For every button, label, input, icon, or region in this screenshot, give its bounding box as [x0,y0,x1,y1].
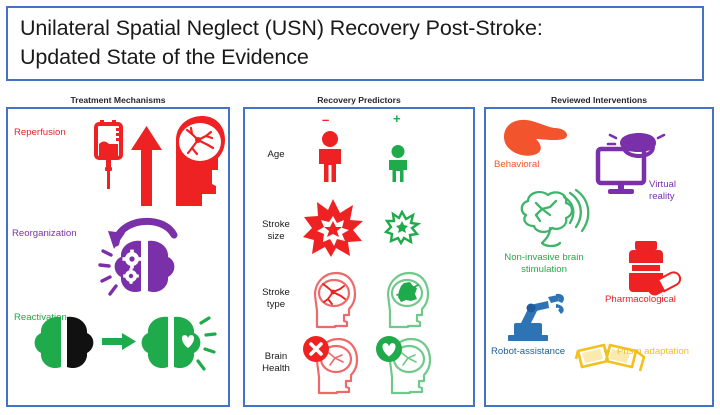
panel-treatment-mechanisms: Reperfusion [6,107,230,407]
child-person-icon [385,145,411,183]
intervention-label-behavioral: Behavioral [494,159,539,171]
positive-sign-header: + [393,114,401,124]
predictor-label-stroke-type: Stroke type [250,287,302,310]
intervention-label-robot-assistance: Robot-assistance [491,346,565,358]
robot-arm-icon [504,291,566,347]
brain-stimulation-icon [516,187,590,255]
intervention-label-virtual-reality: Virtual reality [649,179,676,202]
panel-recovery-predictors: – + Age Stroke size [243,107,475,407]
half-dark-brain-to-heart-brain-icon [26,309,216,387]
panel-header-reviewed-interventions: Reviewed Interventions [484,95,714,105]
adult-person-icon [313,131,347,183]
pill-bottle-icon [625,241,677,297]
page-title: Unilateral Spatial Neglect (USN) Recover… [20,14,692,72]
brain-gears-arrow-icon [100,209,208,301]
intervention-label-pharmacological: Pharmacological [605,294,676,306]
predictor-label-age: Age [250,149,302,161]
iv-bag-arrow-brain-head-icon [92,114,222,210]
negative-sign-header: – [322,115,329,125]
head-x-mark-icon [303,333,359,395]
intervention-label-non-invasive-brain-stimulation: Non-invasive brain stimulation [489,252,599,275]
predictor-label-brain-health: Brain Health [250,351,302,374]
large-burst-icon [303,199,363,257]
head-heart-icon [376,333,432,395]
poster-root: Unilateral Spatial Neglect (USN) Recover… [0,0,720,415]
predictor-label-stroke-size: Stroke size [250,219,302,242]
small-burst-icon [386,212,418,243]
panel-header-recovery-predictors: Recovery Predictors [243,95,475,105]
mechanism-label-reorganization: Reorganization [12,228,77,240]
intervention-label-prism-adaptation: Prism adaptation [617,346,689,358]
title-box: Unilateral Spatial Neglect (USN) Recover… [6,6,704,81]
mechanism-label-reperfusion: Reperfusion [14,127,66,139]
panel-header-treatment-mechanisms: Treatment Mechanisms [6,95,230,105]
pointing-hand-icon [502,115,568,159]
head-ischemic-icon [382,271,430,329]
head-hemorrhagic-icon [309,271,357,329]
panel-reviewed-interventions: Behavioral Virtual reality [484,107,714,407]
